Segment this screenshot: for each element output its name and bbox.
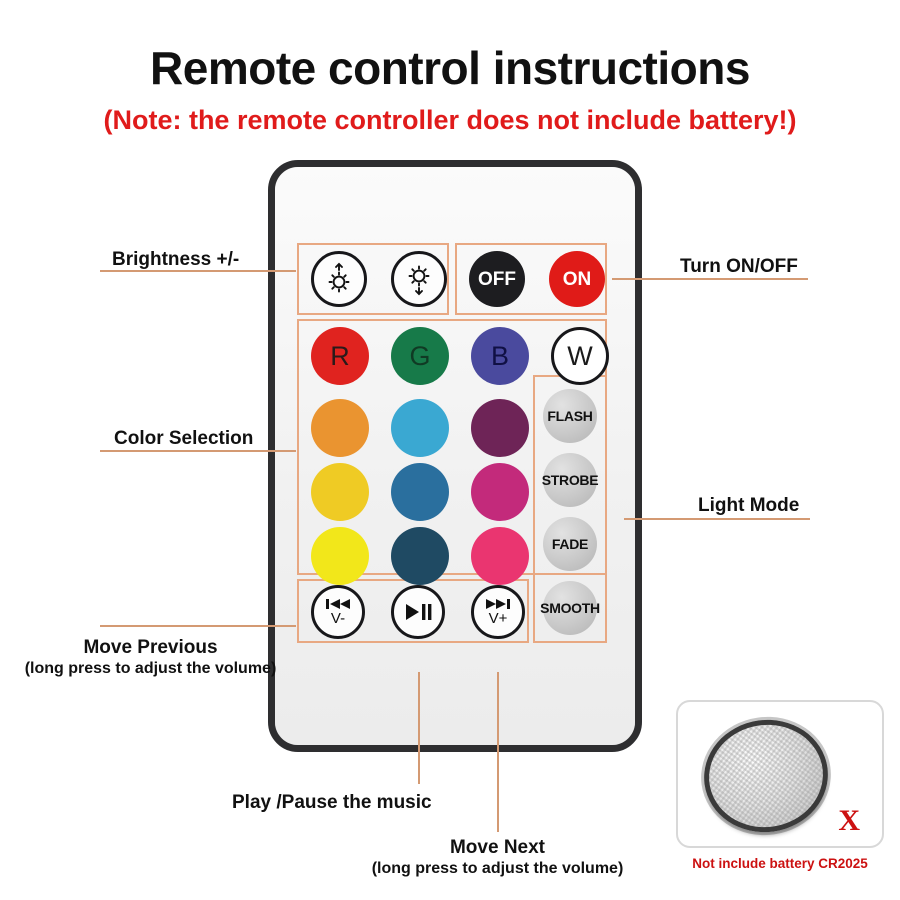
mode-strobe-button[interactable]: STROBE (543, 453, 597, 507)
callout-light-mode-label: Light Mode (698, 494, 799, 517)
brightness-up-button[interactable] (311, 251, 367, 307)
next-button[interactable]: V+ (471, 585, 525, 639)
page-subtitle-note: (Note: the remote controller does not in… (0, 106, 900, 136)
previous-button[interactable]: V- (311, 585, 365, 639)
callout-move-previous: Move Previous (long press to adjust the … (8, 636, 293, 679)
color-blue2-button[interactable] (391, 463, 449, 521)
color-red-button[interactable]: R (311, 327, 369, 385)
mode-fade-button[interactable]: FADE (543, 517, 597, 571)
mode-smooth-button[interactable]: SMOOTH (543, 581, 597, 635)
callout-light-mode: Light Mode (698, 494, 799, 517)
power-on-label: ON (563, 270, 592, 289)
previous-track-icon (324, 597, 352, 611)
color-blue-button[interactable]: B (471, 327, 529, 385)
callout-brightness: Brightness +/- (112, 248, 239, 271)
previous-volume-label: V- (331, 610, 345, 627)
color-pink-button[interactable] (471, 527, 529, 585)
color-blue-label: B (491, 341, 509, 372)
color-magenta-button[interactable] (471, 463, 529, 521)
sun-down-icon (402, 261, 436, 297)
battery-caption: Not include battery CR2025 (676, 856, 884, 871)
callout-turn-on-off-label: Turn ON/OFF (680, 255, 798, 278)
callout-move-previous-sub: (long press to adjust the volume) (8, 659, 293, 679)
color-green-label: G (409, 341, 430, 372)
play-pause-button[interactable] (391, 585, 445, 639)
mode-fade-label: FADE (552, 536, 588, 552)
color-skyblue-button[interactable] (391, 399, 449, 457)
color-white-label: W (567, 341, 592, 372)
leader-line-light-mode (624, 518, 810, 520)
callout-move-previous-label: Move Previous (8, 636, 293, 659)
callout-play-pause: Play /Pause the music (232, 791, 432, 814)
leader-line-move-next (497, 672, 499, 832)
battery-inset: X (676, 700, 884, 848)
power-off-button[interactable]: OFF (469, 251, 525, 307)
callout-turn-on-off: Turn ON/OFF (680, 255, 798, 278)
leader-line-play-pause (418, 672, 420, 784)
callout-move-next-label: Move Next (360, 836, 635, 859)
page-title: Remote control instructions (0, 44, 900, 92)
color-green-button[interactable]: G (391, 327, 449, 385)
callout-move-next-sub: (long press to adjust the volume) (360, 859, 635, 879)
callout-color-label: Color Selection (114, 427, 253, 450)
power-on-button[interactable]: ON (549, 251, 605, 307)
color-purple-button[interactable] (471, 399, 529, 457)
callout-play-pause-label: Play /Pause the music (232, 791, 432, 814)
color-navy-button[interactable] (391, 527, 449, 585)
mode-flash-label: FLASH (547, 408, 592, 424)
next-track-icon (484, 597, 512, 611)
leader-line-move-previous (100, 625, 296, 627)
power-off-label: OFF (478, 270, 516, 289)
color-gold-button[interactable] (311, 463, 369, 521)
mode-flash-button[interactable]: FLASH (543, 389, 597, 443)
play-pause-icon (403, 602, 433, 622)
mode-smooth-label: SMOOTH (540, 600, 600, 616)
color-white-button[interactable]: W (551, 327, 609, 385)
color-orange-button[interactable] (311, 399, 369, 457)
callout-color-selection: Color Selection (114, 427, 253, 450)
brightness-down-button[interactable] (391, 251, 447, 307)
callout-brightness-label: Brightness +/- (112, 248, 239, 271)
remote-control-body: OFF ON R G B W FLASH (268, 160, 642, 752)
leader-line-turn-on-off (612, 278, 808, 280)
color-red-label: R (330, 341, 350, 372)
callout-move-next: Move Next (long press to adjust the volu… (360, 836, 635, 879)
next-volume-label: V+ (489, 610, 508, 627)
coin-cell-battery-icon (697, 712, 835, 840)
mode-strobe-label: STROBE (542, 472, 599, 488)
not-included-x-mark: X (838, 804, 860, 838)
color-yellow-button[interactable] (311, 527, 369, 585)
leader-line-color (100, 450, 296, 452)
sun-up-icon (322, 261, 356, 297)
remote-control-instructions-page: Remote control instructions (Note: the r… (0, 0, 900, 900)
